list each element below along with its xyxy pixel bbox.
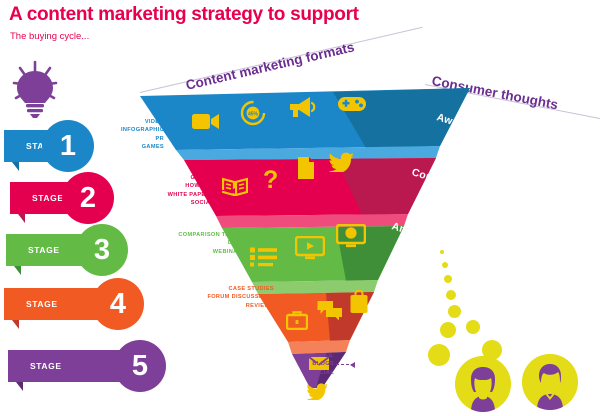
gamepad-icon [336,92,368,114]
infographic-chart-icon: 45% [240,100,266,126]
format-item: SOCIAL [152,199,214,207]
dot-trail-item [442,262,448,268]
dot-trail-item [440,322,456,338]
stage-tail-1 [12,162,19,171]
presentation-screen-icon [336,224,366,248]
stage-word-4: STAGE [26,299,58,309]
formats-list-3: COMPARISON TABLES DEMO WEBINARS [170,231,246,256]
formats-arrow-1 [166,133,184,134]
dot-trail-item [446,290,456,300]
stage-word-2: STAGE [32,193,64,203]
formats-arrow-2 [216,190,234,191]
shopping-bag-icon [349,290,369,314]
lightbulb-icon [8,58,62,125]
formats-list-1: VIDEO INFOGRAPHIC PR GAMES [102,118,164,152]
svg-text:45%: 45% [248,112,259,118]
avatar-female-icon [455,356,511,412]
stage-badge-4[interactable]: STAGE 4 [4,278,154,330]
video-camera-icon [192,111,220,131]
format-item: VIDEO [102,118,164,126]
infographic-canvas: A content marketing strategy to support … [0,0,600,416]
format-item: WHITE PAPERS [152,191,214,199]
checklist-icon [250,246,278,268]
format-item: REVIEWS [198,302,274,310]
stage-tail-5 [16,382,23,391]
format-item: BLOGS [288,360,334,368]
twitter-bird-icon-loyalty [306,381,328,400]
dot-trail-item [428,344,450,366]
stage-number-1: 1 [42,120,94,172]
section-header-formats: Content marketing formats [184,39,355,92]
stage-number-4: 4 [92,278,144,330]
megaphone-icon [288,96,316,118]
speech-bubbles-icon [317,300,343,320]
formats-arrow-4 [276,296,294,297]
format-item: GAMES [102,143,164,151]
format-item: PR [102,135,164,143]
document-icon [297,156,315,180]
format-item: EMAIL [288,352,334,360]
stage-word-3: STAGE [28,245,60,255]
stage-badge-1[interactable]: STAGE 1 [4,120,94,172]
stage-word-5: STAGE [30,361,62,371]
dot-trail-item [444,275,452,283]
stage-number-2: 2 [62,172,114,224]
question-mark-icon: ? [263,166,278,195]
briefcase-icon [286,310,308,330]
format-item: DEMO [170,239,246,247]
format-item: COMPARISON TABLES [170,231,246,239]
format-item: INFOGRAPHIC [102,126,164,134]
format-item: FORUM DISCUSSIONS [198,293,274,301]
format-item: GUIDES [152,174,214,182]
twitter-bird-icon [328,150,354,172]
formats-list-4: CASE STUDIES FORUM DISCUSSIONS REVIEWS [198,285,274,310]
dot-trail-item [448,305,461,318]
avatar-male-icon [522,354,578,410]
format-item: CASE STUDIES [198,285,274,293]
video-monitor-icon [295,236,325,260]
format-item: WEBINARS [170,248,246,256]
stage-tail-4 [12,320,19,329]
page-title: A content marketing strategy to support [9,4,359,26]
dot-trail-item [466,320,480,334]
stage-tail-3 [14,266,21,275]
page-subtitle: The buying cycle... [10,31,89,42]
stage-number-3: 3 [76,224,128,276]
formats-list-5: EMAIL BLOGS SOCIAL [288,352,334,377]
stage-badge-2[interactable]: STAGE 2 [10,172,120,224]
open-book-icon [222,176,248,196]
formats-list-2: GUIDES HOW TO? WHITE PAPERS SOCIAL [152,174,214,208]
formats-arrow-5 [336,364,354,365]
format-item: HOW TO? [152,182,214,190]
format-item: SOCIAL [288,369,334,377]
dot-trail-item [440,250,444,254]
stage-badge-3[interactable]: STAGE 3 [6,224,136,276]
stage-tail-2 [18,214,25,223]
formats-arrow-3 [248,242,266,243]
